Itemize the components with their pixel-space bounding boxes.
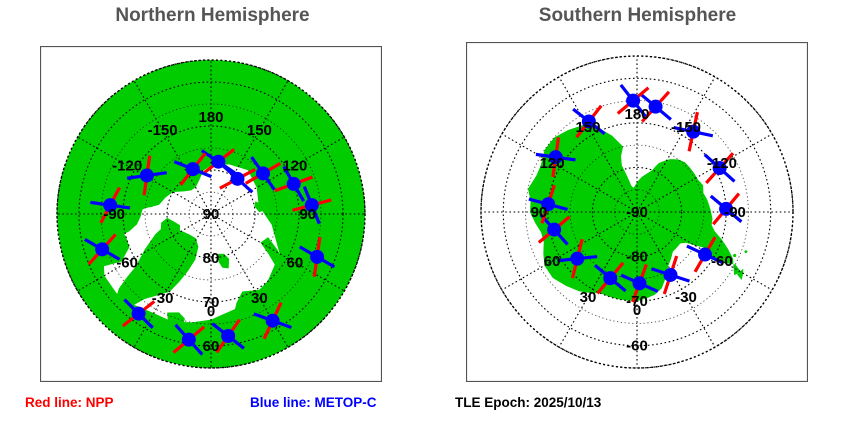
svg-text:-90: -90 [103, 206, 125, 223]
svg-text:-90: -90 [724, 204, 746, 221]
svg-text:60: 60 [544, 253, 561, 270]
legend-red-line: Red line: NPP [25, 395, 114, 410]
svg-text:-150: -150 [148, 122, 178, 139]
svg-text:120: 120 [540, 155, 565, 172]
svg-text:30: 30 [580, 289, 597, 306]
svg-text:-60: -60 [626, 338, 648, 355]
svg-text:180: 180 [624, 106, 649, 123]
svg-text:-30: -30 [152, 290, 174, 307]
svg-text:-120: -120 [707, 155, 737, 172]
svg-text:-150: -150 [671, 119, 701, 136]
svg-text:0: 0 [633, 302, 641, 319]
svg-text:150: 150 [247, 122, 272, 139]
svg-text:180: 180 [198, 109, 223, 126]
svg-text:90: 90 [203, 206, 220, 223]
legend-tle-epoch: TLE Epoch: 2025/10/13 [455, 395, 601, 410]
legend: Red line: NPP Blue line: METOP-C TLE Epo… [0, 395, 850, 425]
svg-text:80: 80 [203, 250, 220, 267]
northern-hemisphere-panel: Northern Hemisphere 90807060030609012015… [0, 0, 425, 425]
svg-text:60: 60 [286, 254, 303, 271]
southern-hemisphere-title: Southern Hemisphere [425, 5, 850, 27]
svg-text:-60: -60 [116, 254, 138, 271]
svg-text:120: 120 [282, 158, 307, 175]
southern-hemisphere-panel: Southern Hemisphere -90-80-70-6003060901… [425, 0, 850, 425]
southern-hemisphere-map: -90-80-70-600306090120150180-150-120-90-… [466, 42, 808, 382]
svg-text:150: 150 [575, 119, 600, 136]
svg-text:-90: -90 [626, 204, 648, 221]
svg-text:30: 30 [251, 290, 268, 307]
svg-text:90: 90 [531, 204, 548, 221]
svg-text:-80: -80 [626, 249, 648, 266]
svg-text:-60: -60 [711, 253, 733, 270]
svg-text:60: 60 [203, 338, 220, 355]
svg-text:-120: -120 [112, 158, 142, 175]
svg-text:0: 0 [207, 303, 215, 320]
legend-blue-line: Blue line: METOP-C [250, 395, 377, 410]
northern-hemisphere-title: Northern Hemisphere [0, 5, 425, 27]
svg-text:90: 90 [299, 206, 316, 223]
svg-text:-30: -30 [675, 289, 697, 306]
northern-hemisphere-map: 908070600306090120150180-150-120-90-60-3… [40, 46, 382, 382]
